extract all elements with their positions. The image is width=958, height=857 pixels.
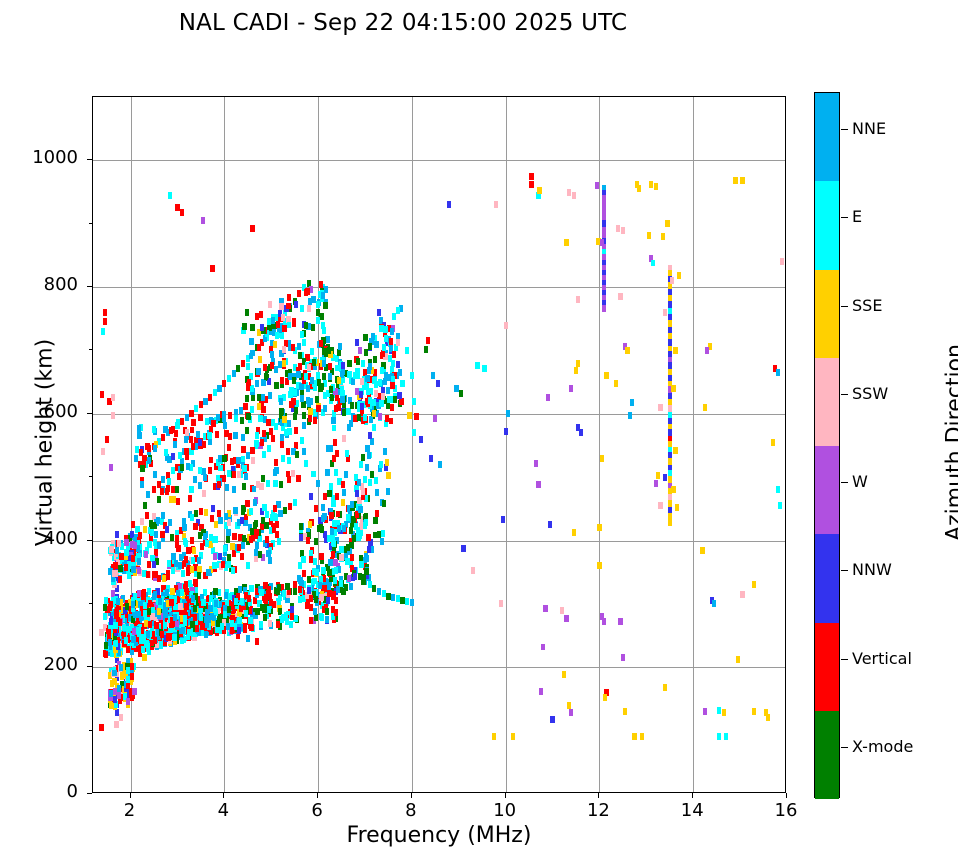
data-point (231, 567, 235, 574)
data-point (314, 538, 318, 545)
data-point (337, 377, 341, 384)
data-point (240, 417, 244, 424)
data-point (379, 461, 383, 468)
data-point (234, 598, 238, 605)
data-point (259, 589, 263, 596)
data-point (227, 375, 231, 382)
data-point (419, 436, 423, 443)
data-point (334, 609, 338, 616)
data-point (391, 594, 395, 601)
data-point (504, 428, 508, 435)
data-point (245, 309, 249, 316)
data-point (310, 348, 314, 355)
data-point (108, 639, 112, 646)
data-point (243, 626, 247, 633)
data-point (299, 523, 303, 530)
data-point (275, 521, 279, 528)
data-point (195, 625, 199, 632)
data-point (254, 520, 258, 527)
data-point (321, 504, 325, 511)
data-point (250, 447, 254, 454)
data-point (602, 305, 606, 312)
data-point (194, 510, 198, 517)
data-point (499, 600, 503, 607)
data-point (295, 451, 299, 458)
x-tick-label: 4 (193, 800, 253, 821)
data-point (300, 437, 304, 444)
data-point (260, 324, 264, 331)
data-point (381, 530, 385, 537)
data-point (241, 434, 245, 441)
data-point (196, 431, 200, 438)
data-point (616, 225, 620, 232)
data-point (355, 490, 359, 497)
data-point (112, 670, 116, 677)
data-point (621, 227, 625, 234)
data-point (191, 557, 195, 564)
data-point (262, 451, 266, 458)
data-point (140, 481, 144, 488)
data-point (273, 469, 277, 476)
data-point (331, 500, 335, 507)
data-point (183, 538, 187, 545)
gridline-vertical (506, 97, 507, 792)
data-point (299, 383, 303, 390)
data-point (144, 551, 148, 558)
data-point (400, 380, 404, 387)
data-point (410, 372, 414, 379)
data-point (326, 597, 330, 604)
data-point (671, 385, 675, 392)
y-tick-label: 200 (8, 654, 78, 675)
data-point (253, 499, 257, 506)
data-point (286, 448, 290, 455)
data-point (272, 601, 276, 608)
data-point (252, 486, 256, 493)
data-point (197, 572, 201, 579)
data-point (385, 415, 389, 422)
data-point (271, 419, 275, 426)
data-point (569, 385, 573, 392)
data-point (150, 522, 154, 529)
data-point (283, 507, 287, 514)
data-point (368, 432, 372, 439)
data-point (365, 445, 369, 452)
data-point (113, 622, 117, 629)
data-point (258, 356, 262, 363)
data-point (154, 531, 158, 538)
data-point (560, 607, 564, 614)
data-point (134, 455, 138, 462)
data-point (140, 518, 144, 525)
data-point (124, 539, 128, 546)
data-point (670, 277, 674, 284)
data-point (225, 484, 229, 491)
data-point (279, 408, 283, 415)
data-point (361, 360, 365, 367)
data-point (230, 458, 234, 465)
data-point (192, 547, 196, 554)
colorbar-tick (841, 129, 848, 130)
data-point (285, 583, 289, 590)
data-point (265, 536, 269, 543)
data-point (321, 515, 325, 522)
data-point (170, 588, 174, 595)
data-point (146, 631, 150, 638)
data-point (377, 588, 381, 595)
data-point (222, 455, 226, 462)
data-point (226, 529, 230, 536)
data-point (153, 445, 157, 452)
data-point (213, 553, 217, 560)
gridline-vertical (224, 97, 225, 792)
data-point (241, 446, 245, 453)
data-point (148, 621, 152, 628)
y-tick (87, 666, 92, 667)
data-point (111, 394, 115, 401)
data-point (302, 448, 306, 455)
data-point (367, 546, 371, 553)
data-point (374, 390, 378, 397)
data-point (249, 536, 253, 543)
data-point (124, 637, 128, 644)
data-point (328, 559, 332, 566)
data-point (337, 349, 341, 356)
data-point (214, 600, 218, 607)
data-point (364, 553, 368, 560)
data-point (359, 461, 363, 468)
data-point (390, 328, 394, 335)
data-point (329, 483, 333, 490)
x-tick (223, 793, 224, 798)
colorbar-tick (841, 394, 848, 395)
data-point (323, 302, 327, 309)
data-point (316, 405, 320, 412)
data-point (282, 416, 286, 423)
data-point (347, 360, 351, 367)
data-point (307, 305, 311, 312)
data-point (328, 363, 332, 370)
colorbar-tick (841, 217, 848, 218)
data-point (186, 547, 190, 554)
data-point (382, 344, 386, 351)
data-point (327, 490, 331, 497)
data-point (146, 643, 150, 650)
data-point (157, 542, 161, 549)
data-point (173, 441, 177, 448)
data-point (143, 502, 147, 509)
data-point (246, 635, 250, 642)
data-point (173, 603, 177, 610)
data-point (218, 553, 222, 560)
data-point (274, 366, 278, 373)
data-point (361, 488, 365, 495)
colorbar (814, 92, 840, 798)
data-point (319, 613, 323, 620)
data-point (153, 471, 157, 478)
data-point (103, 309, 107, 316)
data-point (287, 294, 291, 301)
data-point (341, 368, 345, 375)
data-point (111, 412, 115, 419)
data-point (323, 405, 327, 412)
colorbar-label-nne: NNE (852, 119, 886, 138)
data-point (117, 540, 121, 547)
data-point (471, 567, 475, 574)
data-point (218, 517, 222, 524)
data-point (132, 688, 136, 695)
data-point (245, 500, 249, 507)
data-point (168, 519, 172, 526)
data-point (117, 649, 121, 656)
data-point (364, 568, 368, 575)
data-point (562, 671, 566, 678)
data-point (173, 596, 177, 603)
data-point (223, 545, 227, 552)
data-point (259, 311, 263, 318)
data-point (663, 309, 667, 316)
data-point (259, 621, 263, 628)
data-point (301, 401, 305, 408)
data-point (291, 344, 295, 351)
data-point (308, 415, 312, 422)
data-point (268, 557, 272, 564)
data-point (277, 538, 281, 545)
data-point (316, 317, 320, 324)
data-point (237, 544, 241, 551)
data-point (204, 631, 208, 638)
data-point (268, 620, 272, 627)
data-point (257, 344, 261, 351)
data-point (241, 360, 245, 367)
data-point (433, 415, 437, 422)
data-point (325, 616, 329, 623)
data-point (177, 473, 181, 480)
data-point (356, 372, 360, 379)
data-point (185, 414, 189, 421)
data-point (103, 613, 107, 620)
data-point (298, 577, 302, 584)
data-point (623, 708, 627, 715)
data-point (603, 694, 607, 701)
data-point (366, 534, 370, 541)
data-point (133, 542, 137, 549)
data-point (126, 676, 130, 683)
data-point (212, 536, 216, 543)
data-point (209, 457, 213, 464)
data-point (257, 403, 261, 410)
data-point (574, 367, 578, 374)
data-point (273, 480, 277, 487)
data-point (548, 521, 552, 528)
data-point (337, 525, 341, 532)
data-point (298, 586, 302, 593)
data-point (567, 702, 571, 709)
data-point (319, 281, 323, 288)
data-point (256, 368, 260, 375)
data-point (246, 363, 250, 370)
data-point (180, 418, 184, 425)
data-point (258, 415, 262, 422)
data-point (163, 622, 167, 629)
data-point (320, 383, 324, 390)
data-point (290, 606, 294, 613)
data-point (203, 398, 207, 405)
data-point (604, 372, 608, 379)
data-point (293, 588, 297, 595)
data-point (302, 339, 306, 346)
data-point (161, 512, 165, 519)
data-point (141, 634, 145, 641)
data-point (254, 529, 258, 536)
data-point (145, 512, 149, 519)
data-point (305, 288, 309, 295)
colorbar-segment-ssw (815, 358, 839, 446)
data-point (329, 512, 333, 519)
data-point (204, 509, 208, 516)
colorbar-tick (841, 570, 848, 571)
data-point (333, 577, 337, 584)
data-point (384, 372, 388, 379)
data-point (382, 500, 386, 507)
data-point (211, 505, 215, 512)
data-point (600, 455, 604, 462)
data-point (282, 346, 286, 353)
x-tick (130, 793, 131, 798)
data-point (618, 293, 622, 300)
data-point (717, 733, 721, 740)
data-point (139, 449, 143, 456)
y-tick-label: 1000 (8, 147, 78, 168)
data-point (334, 405, 338, 412)
colorbar-segment-e (815, 181, 839, 269)
data-point (230, 543, 234, 550)
data-point (194, 580, 198, 587)
data-point (198, 482, 202, 489)
plot-frame (92, 96, 786, 793)
data-point (621, 654, 625, 661)
data-point (185, 588, 189, 595)
data-point (314, 505, 318, 512)
data-point (239, 407, 243, 414)
data-point (361, 454, 365, 461)
data-point (400, 597, 404, 604)
data-point (405, 598, 409, 605)
data-point (287, 322, 291, 329)
data-point (126, 646, 130, 653)
data-point (316, 372, 320, 379)
data-point (193, 523, 197, 530)
data-point (309, 556, 313, 563)
data-point (319, 340, 323, 347)
data-point (322, 327, 326, 334)
data-point (103, 318, 107, 325)
colorbar-tick (841, 482, 848, 483)
data-point (124, 549, 128, 556)
colorbar-label-vertical: Vertical (852, 649, 912, 668)
data-point (212, 562, 216, 569)
data-point (189, 410, 193, 417)
data-point (306, 385, 310, 392)
data-point (390, 404, 394, 411)
data-point (279, 398, 283, 405)
gridline-vertical (693, 97, 694, 792)
data-point (315, 396, 319, 403)
data-point (378, 379, 382, 386)
data-point (396, 361, 400, 368)
data-point (190, 427, 194, 434)
data-point (304, 460, 308, 467)
data-point (733, 177, 737, 184)
colorbar-segment-x-mode (815, 711, 839, 799)
data-point (350, 501, 354, 508)
data-point (267, 318, 271, 325)
data-point (671, 486, 675, 493)
data-point (539, 688, 543, 695)
data-point (314, 614, 318, 621)
data-point (736, 656, 740, 663)
data-point (223, 422, 227, 429)
data-point (261, 406, 265, 413)
data-point (297, 290, 301, 297)
data-point (703, 404, 707, 411)
data-point (381, 393, 385, 400)
data-point (429, 455, 433, 462)
data-point (279, 481, 283, 488)
data-point (166, 573, 170, 580)
data-point (227, 444, 231, 451)
data-point (494, 201, 498, 208)
data-point (355, 388, 359, 395)
colorbar-label-x-mode: X-mode (852, 737, 913, 756)
data-point (447, 201, 451, 208)
data-point (312, 568, 316, 575)
data-point (249, 585, 253, 592)
data-point (382, 590, 386, 597)
data-point (309, 595, 313, 602)
data-point (140, 465, 144, 472)
data-point (342, 525, 346, 532)
data-point (114, 721, 118, 728)
data-point (222, 380, 226, 387)
data-point (142, 654, 146, 661)
data-point (372, 410, 376, 417)
data-point (637, 185, 641, 192)
data-point (255, 542, 259, 549)
data-point (160, 488, 164, 495)
data-point (163, 426, 167, 433)
data-point (654, 183, 658, 190)
data-point (365, 464, 369, 471)
data-point (374, 477, 378, 484)
data-point (227, 554, 231, 561)
data-point (316, 480, 320, 487)
x-tick-label: 12 (568, 800, 628, 821)
data-point (241, 542, 245, 549)
data-point (109, 601, 113, 608)
data-point (368, 363, 372, 370)
data-point (389, 418, 393, 425)
data-point (431, 372, 435, 379)
data-point (251, 457, 255, 464)
x-tick-label: 8 (381, 800, 441, 821)
data-point (700, 547, 704, 554)
y-tick-minor (89, 349, 92, 350)
data-point (396, 595, 400, 602)
data-point (255, 313, 259, 320)
data-point (302, 422, 306, 429)
data-point (237, 471, 241, 478)
